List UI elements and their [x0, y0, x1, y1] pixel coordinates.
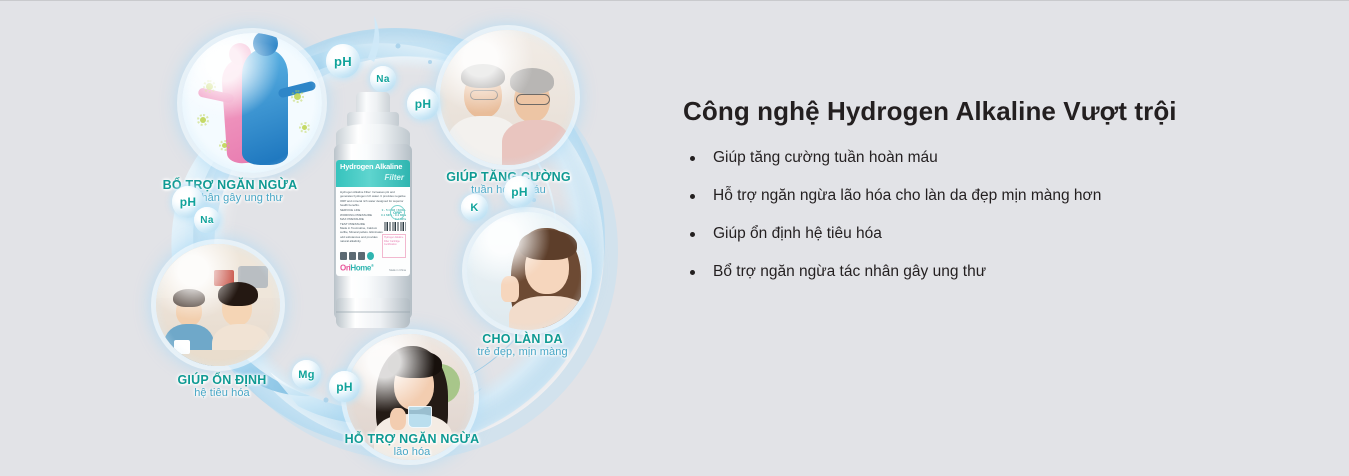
list-item: Giúp tăng cường tuần hoàn máu — [683, 149, 1303, 167]
mineral-bubble-ph: pH — [326, 44, 360, 78]
certification-box: Hydrogen Alkaline Filter Cartridge Certi… — [382, 234, 406, 258]
mineral-bubble-na: Na — [370, 66, 396, 92]
list-item: Bổ trợ ngăn ngừa tác nhân gây ung thư — [683, 263, 1303, 281]
list-item-label: Hỗ trợ ngăn ngừa lão hóa cho làn da đẹp … — [713, 187, 1101, 204]
list-item-label: Giúp ổn định hệ tiêu hóa — [713, 225, 882, 242]
cartridge-label: Hydrogen Alkaline Filter Hydrogen Alkali… — [336, 160, 410, 276]
benefit-caption-aging: HỖ TRỢ NGĂN NGỪA lão hóa — [312, 432, 512, 458]
barcode-icon — [384, 222, 406, 231]
benefit-bubble-digestion — [156, 244, 280, 366]
nsf-icon — [349, 252, 356, 260]
brand-logo: OriHome® — [340, 263, 374, 273]
label-product-title: Hydrogen Alkaline — [340, 162, 402, 171]
human-silhouettes-illustration — [182, 33, 322, 173]
orp-seal-icon: ORP — [390, 205, 405, 220]
rohs-icon — [367, 252, 374, 260]
bullet-dot — [690, 270, 695, 275]
mineral-bubble-ph: pH — [504, 176, 535, 207]
recycle-icon — [340, 252, 347, 260]
water-filter-cartridge: Hydrogen Alkaline Filter Hydrogen Alkali… — [330, 92, 416, 332]
bullet-dot — [690, 156, 695, 161]
benefit-bubble-skin — [467, 212, 587, 330]
young-woman-skincare-photo — [467, 212, 587, 330]
benefit-bubble-cancer — [182, 33, 322, 173]
ce-icon — [358, 252, 365, 260]
benefit-caption-cancer: BỔ TRỢ NGĂN NGỪA tác nhân gây ung thư — [125, 178, 335, 204]
cartridge-base — [336, 298, 410, 328]
mineral-bubble-k: K — [461, 194, 488, 221]
product-description-panel: Công nghệ Hydrogen Alkaline Vượt trội Gi… — [683, 96, 1303, 301]
benefit-bubble-blood — [440, 30, 575, 165]
list-item: Giúp ổn định hệ tiêu hóa — [683, 225, 1303, 243]
label-product-subtitle: Filter — [384, 173, 404, 182]
bullet-dot — [690, 232, 695, 237]
mother-child-eating-photo — [156, 244, 280, 366]
label-certification-icons — [340, 252, 374, 260]
label-materials-note: Made in Tourmaline, Calcium sulfite, Min… — [340, 226, 384, 243]
bullet-dot — [690, 194, 695, 199]
list-item-label: Giúp tăng cường tuần hoàn máu — [713, 149, 938, 166]
mineral-bubble-mg: Mg — [292, 360, 321, 389]
list-item-label: Bổ trợ ngăn ngừa tác nhân gây ung thư — [713, 263, 986, 280]
benefits-list: Giúp tăng cường tuần hoàn máu Hỗ trợ ngă… — [683, 149, 1303, 281]
list-item: Hỗ trợ ngăn ngừa lão hóa cho làn da đẹp … — [683, 187, 1303, 205]
product-benefits-infographic: BỔ TRỢ NGĂN NGỪA tác nhân gây ung thư GI… — [130, 0, 650, 476]
mineral-bubble-ph: pH — [329, 371, 360, 402]
elderly-couple-photo — [440, 30, 575, 165]
mineral-bubble-na: Na — [194, 207, 220, 233]
page-title: Công nghệ Hydrogen Alkaline Vượt trội — [683, 96, 1303, 127]
label-fine-print: Made in China — [389, 269, 406, 272]
